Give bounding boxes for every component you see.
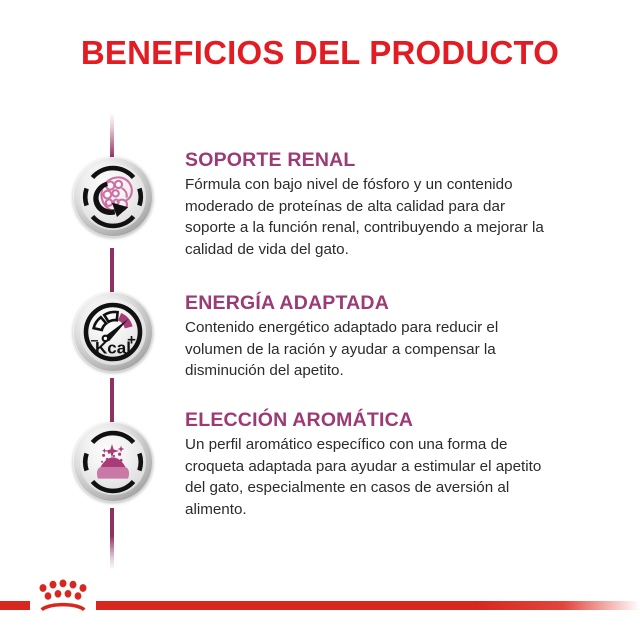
benefit-body-energy: Contenido energético adaptado para reduc… [185, 317, 555, 382]
food-bowl-icon [97, 457, 129, 478]
page-title: BENEFICIOS DEL PRODUCTO [0, 34, 640, 72]
kcal-gauge-icon-badge: – + Kcal [73, 292, 153, 372]
aroma-bowl-icon [73, 422, 153, 502]
benefit-block-renal: SOPORTE RENAL Fórmula con bajo nivel de … [185, 149, 555, 260]
benefit-block-energy: ENERGÍA ADAPTADA Contenido energético ad… [185, 292, 555, 382]
benefit-heading-energy: ENERGÍA ADAPTADA [185, 292, 555, 315]
aroma-bowl-icon-badge [73, 422, 153, 502]
royal-canin-crown-logo [32, 575, 94, 615]
gauge-kcal-label: Kcal [95, 339, 131, 358]
footer-rule-left [0, 601, 30, 610]
benefit-heading-aroma: ELECCIÓN AROMÁTICA [185, 409, 555, 432]
benefit-block-aroma: ELECCIÓN AROMÁTICA Un perfil aromático e… [185, 409, 555, 520]
benefit-body-renal: Fórmula con bajo nivel de fósforo y un c… [185, 174, 555, 260]
kcal-gauge-icon: – + Kcal [73, 292, 153, 372]
footer-rule-right [96, 601, 640, 610]
benefit-body-aroma: Un perfil aromático específico con una f… [185, 434, 555, 520]
kidney-icon-badge [73, 157, 153, 237]
kidney-icon [73, 157, 153, 237]
product-benefits-page: BENEFICIOS DEL PRODUCTO [0, 0, 640, 640]
timeline-spine-bottom [110, 508, 114, 570]
benefit-heading-renal: SOPORTE RENAL [185, 149, 555, 172]
